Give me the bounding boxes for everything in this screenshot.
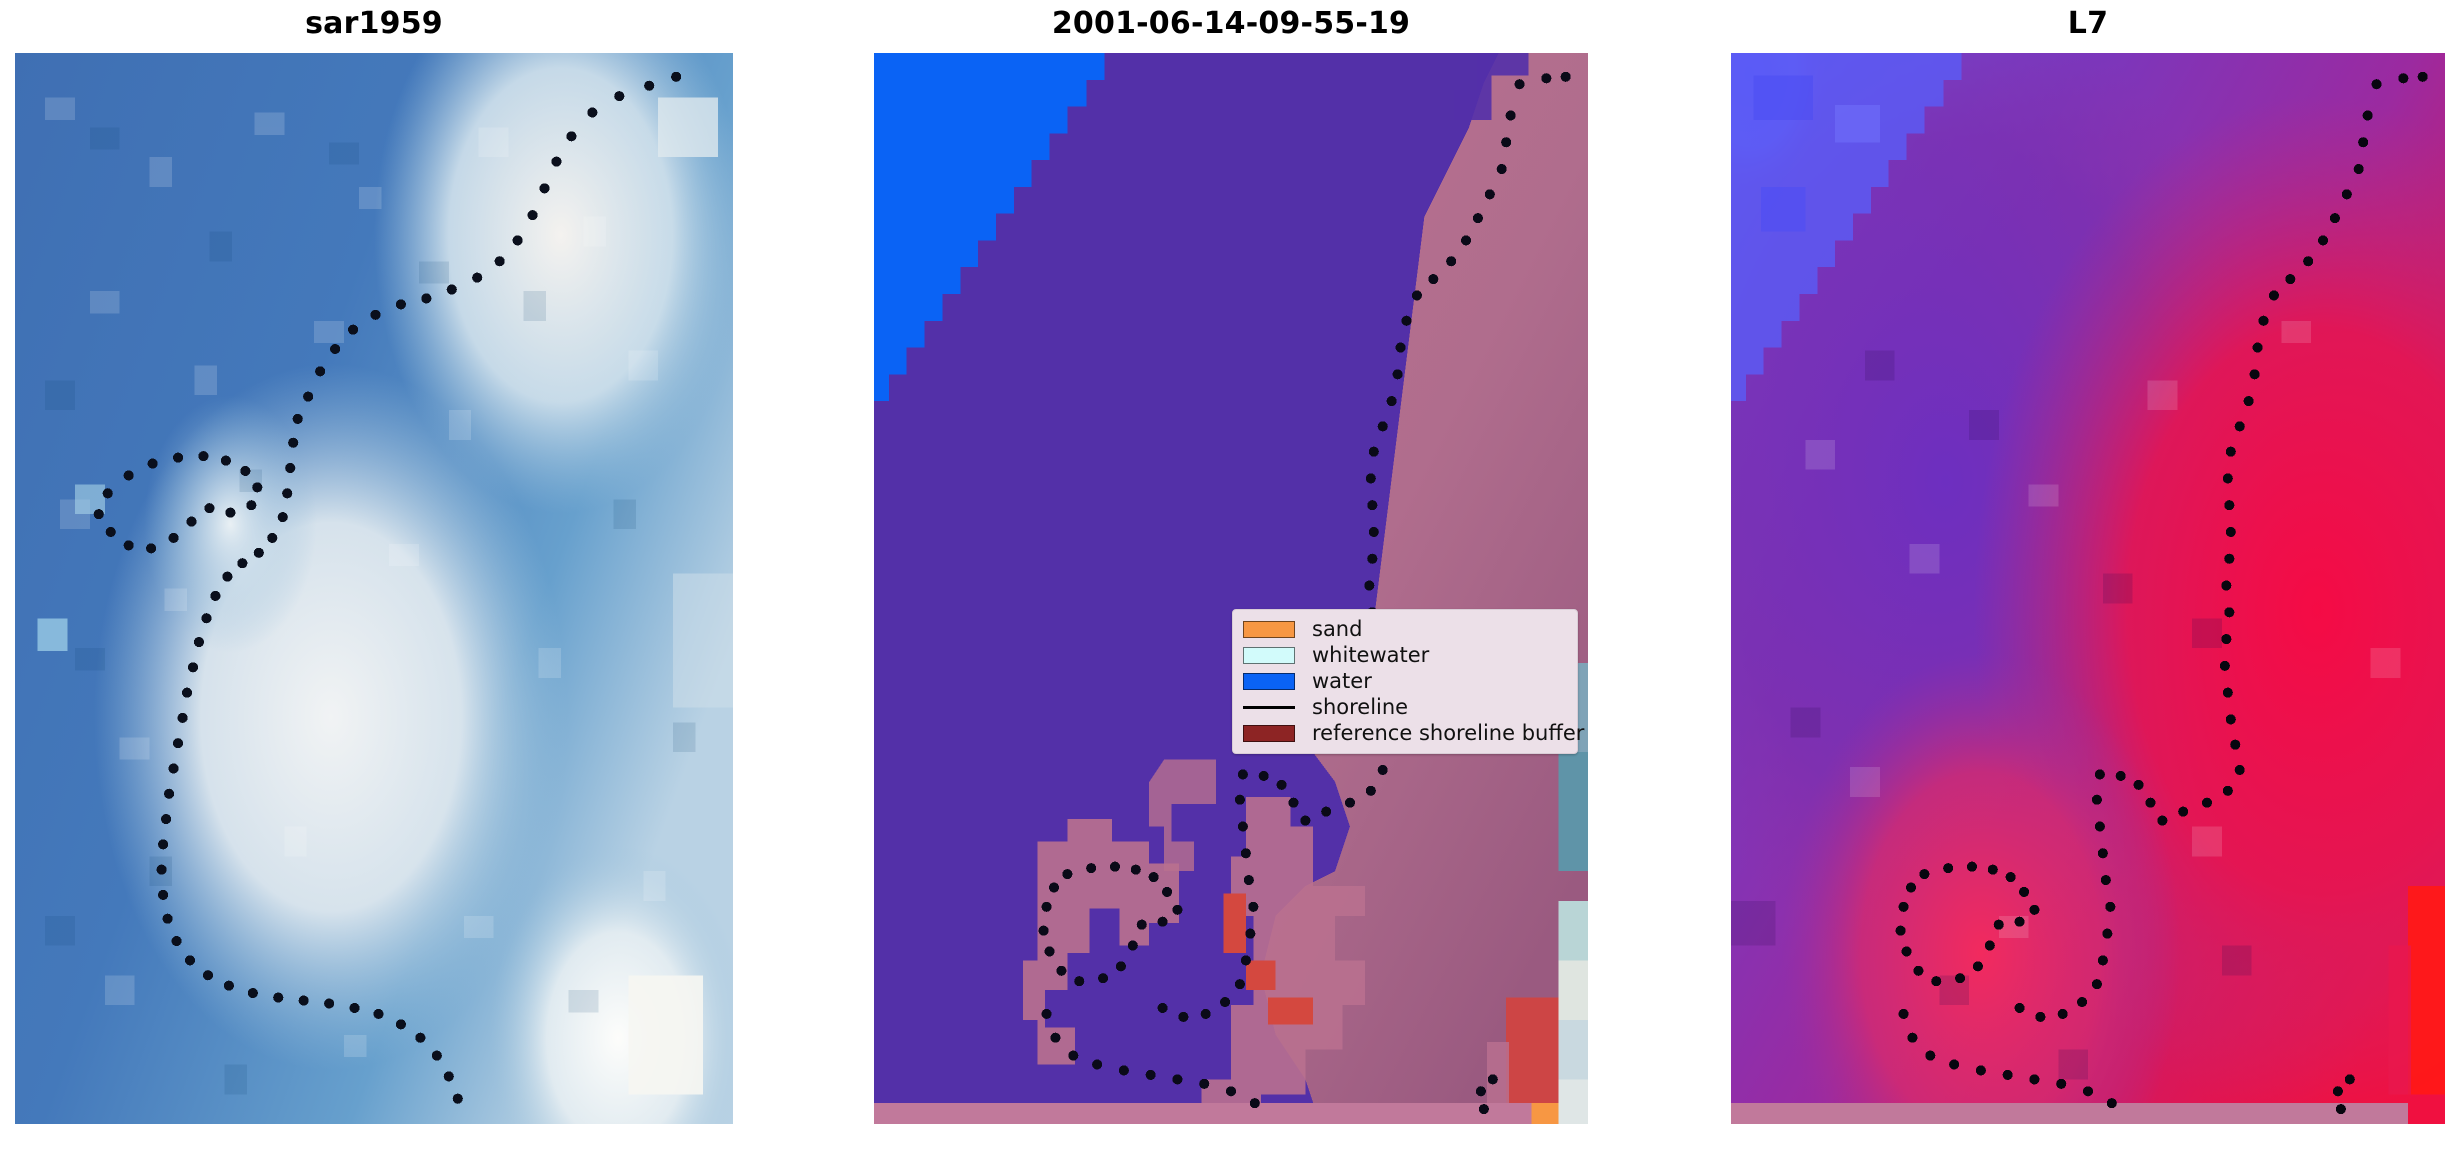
legend-label-water: water [1312,671,1372,692]
legend-label-shoreline: shoreline [1312,697,1408,718]
panel-classification[interactable]: sand whitewater water shoreline referenc… [874,53,1588,1124]
panel-sar1959[interactable] [15,53,733,1124]
water-swatch [1243,673,1295,690]
map-legend[interactable]: sand whitewater water shoreline referenc… [1232,609,1578,754]
legend-label-whitewater: whitewater [1312,645,1429,666]
legend-label-reference-buffer: reference shoreline buffer [1312,723,1584,744]
panel-l7[interactable] [1731,53,2445,1124]
sand-swatch [1243,621,1295,638]
reference-buffer-swatch [1243,725,1295,742]
sand-patch [1531,1103,1558,1124]
bottom-buffer-strip [874,1103,1531,1124]
legend-item-sand[interactable]: sand [1243,616,1567,642]
panel-title-sar: sar1959 [15,2,733,46]
legend-item-shoreline[interactable]: shoreline [1243,694,1567,720]
red-patch-b [1224,893,1246,953]
legend-label-sand: sand [1312,619,1362,640]
panel-title-l7: L7 [1731,2,2445,46]
panel-title-classification: 2001-06-14-09-55-19 [874,2,1588,46]
legend-item-reference-buffer[interactable]: reference shoreline buffer [1243,720,1567,746]
l7-raster-image [1731,53,2445,1124]
classification-raster-image [874,53,1588,1124]
whitewater-swatch [1243,647,1295,664]
figure-canvas: sar1959 2001-06-14-09-55-19 L7 [0,0,2460,1159]
red-patch-d [1268,998,1313,1025]
legend-item-whitewater[interactable]: whitewater [1243,642,1567,668]
red-patch-c [1246,960,1276,990]
legend-item-water[interactable]: water [1243,668,1567,694]
sar-raster-image [15,53,733,1124]
whitewater-col-a [1558,752,1588,871]
shoreline-line-swatch [1243,699,1295,716]
